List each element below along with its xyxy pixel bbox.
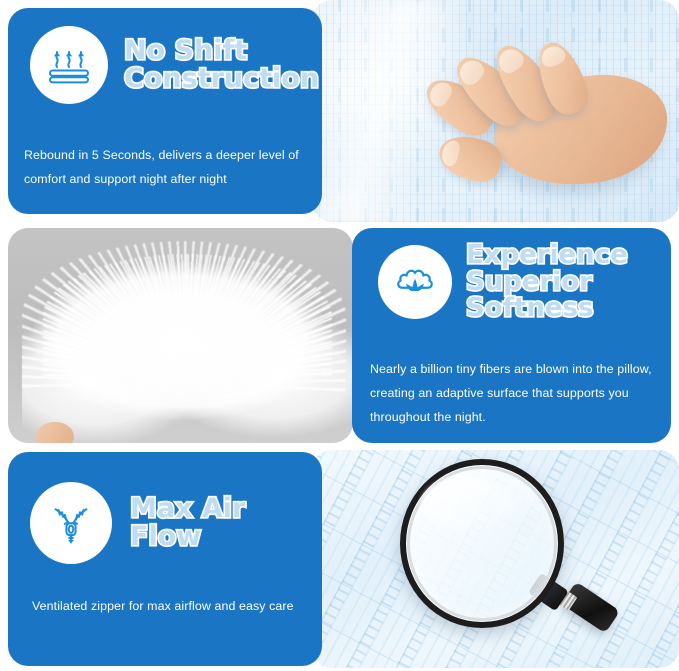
fingernail: [425, 78, 454, 109]
airflow-mattress-icon: [45, 41, 93, 89]
feature-card-no-shift-construction: No Shift Construction Rebound in 5 Secon…: [8, 8, 322, 214]
feature-description: Rebound in 5 Seconds, delivers a deeper …: [24, 143, 310, 191]
fingernail: [538, 42, 567, 69]
magnifying-glass: [400, 459, 606, 642]
fingernail: [455, 56, 488, 89]
feature-row-max-air-flow: Max Air Flow Ventilated zipper for max a…: [0, 450, 679, 671]
feature-card-max-air-flow: Max Air Flow Ventilated zipper for max a…: [8, 452, 322, 666]
fiber-strands-inner: [43, 254, 333, 379]
feature-title: Max Air Flow: [130, 495, 245, 550]
feature-header: Max Air Flow: [30, 482, 312, 564]
zipper-icon: [46, 498, 96, 548]
feature-icon-badge: [30, 482, 112, 564]
magnifier-lens-glare: [421, 477, 512, 531]
magnifier-lens: [400, 459, 564, 628]
feature-header: No Shift Construction: [30, 26, 312, 104]
cotton-boll-icon: [392, 259, 438, 305]
feature-icon-badge: [30, 26, 108, 104]
feature-title: No Shift Construction: [124, 37, 319, 92]
feature-card-superior-softness: Experience Superior Softness Nearly a bi…: [352, 228, 671, 443]
magnifying-glass-on-quilted-fabric-photo: [312, 450, 679, 668]
feature-icon-badge: [378, 245, 452, 319]
feature-row-no-shift-construction: No Shift Construction Rebound in 5 Secon…: [0, 0, 679, 225]
hand-pressing-pillow-photo: [312, 0, 679, 222]
feature-header: Experience Superior Softness: [378, 242, 661, 322]
feature-title: Experience Superior Softness: [466, 242, 628, 322]
product-feature-infographic: No Shift Construction Rebound in 5 Secon…: [0, 0, 679, 671]
fingernail: [440, 139, 462, 168]
hand-illustration: [415, 36, 679, 209]
fingernail: [494, 44, 526, 76]
fluffy-fiber-cluster-photo: [8, 228, 353, 443]
feature-description: Nearly a billion tiny fibers are blown i…: [370, 358, 657, 429]
feature-row-superior-softness: Experience Superior Softness Nearly a bi…: [0, 225, 679, 450]
feature-description: Ventilated zipper for max airflow and ea…: [32, 594, 310, 618]
